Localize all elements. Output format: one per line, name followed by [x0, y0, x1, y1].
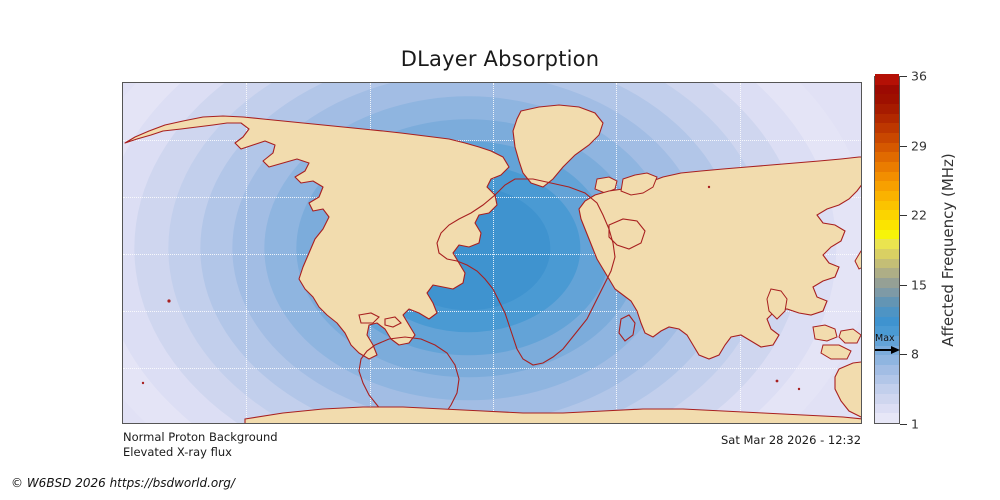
colorbar-segment: [875, 142, 899, 152]
colorbar-segment: [875, 229, 899, 239]
figure-root: DLayer Absorption: [0, 0, 1000, 500]
colorbar-segment: [875, 84, 899, 94]
status-note-xray: Elevated X-ray flux: [123, 445, 232, 459]
colorbar-tick: [900, 215, 907, 216]
colorbar-segment: [875, 393, 899, 403]
status-note-proton: Normal Proton Background: [123, 430, 278, 444]
colorbar-segment: [875, 171, 899, 181]
colorbar-segment: [875, 113, 899, 123]
colorbar-segment: [875, 152, 899, 162]
colorbar-segment: [875, 190, 899, 200]
colorbar-tick: [900, 146, 907, 147]
colorbar-axis-title-text: Affected Frequency (MHz): [939, 153, 957, 347]
page-title: DLayer Absorption: [0, 47, 1000, 71]
colorbar-gradient: [874, 76, 900, 424]
colorbar-segment: [875, 161, 899, 171]
map-canvas[interactable]: [122, 82, 862, 424]
colorbar-segment: [875, 74, 899, 84]
colorbar-tick-label: 8: [911, 347, 919, 362]
colorbar-tick: [900, 76, 907, 77]
colorbar-segment: [875, 239, 899, 249]
colorbar-segment: [875, 413, 899, 423]
max-marker-label: Max: [875, 334, 895, 344]
colorbar-segment: [875, 306, 899, 316]
colorbar-tick-label: 22: [911, 208, 927, 223]
colorbar-segment: [875, 364, 899, 374]
colorbar-segment: [875, 258, 899, 268]
colorbar-tick: [900, 424, 907, 425]
colorbar-segment: [875, 287, 899, 297]
copyright-footer: © W6BSD 2026 https://bsdworld.org/: [11, 476, 235, 490]
colorbar-segment: [875, 181, 899, 191]
world-coastlines: [123, 83, 861, 423]
colorbar-tick: [900, 285, 907, 286]
colorbar-segment: [875, 277, 899, 287]
colorbar-segment: [875, 210, 899, 220]
colorbar-segment: [875, 200, 899, 210]
colorbar-segment: [875, 297, 899, 307]
colorbar-tick: [900, 354, 907, 355]
colorbar[interactable]: 1815222936 Max: [874, 76, 900, 424]
colorbar-segment: [875, 384, 899, 394]
max-arrow-icon: [874, 345, 900, 355]
colorbar-segment: [875, 316, 899, 326]
colorbar-segment: [875, 219, 899, 229]
timestamp: Sat Mar 28 2026 - 12:32: [721, 433, 861, 447]
colorbar-segment: [875, 123, 899, 133]
colorbar-segment: [875, 355, 899, 365]
colorbar-segment: [875, 94, 899, 104]
colorbar-segment: [875, 248, 899, 258]
colorbar-segment: [875, 268, 899, 278]
map-inner: [123, 83, 861, 423]
colorbar-tick-label: 1: [911, 417, 919, 432]
colorbar-tick-label: 36: [911, 69, 927, 84]
colorbar-tick-label: 15: [911, 277, 927, 292]
colorbar-segment: [875, 103, 899, 113]
colorbar-segment: [875, 132, 899, 142]
colorbar-tick-label: 29: [911, 138, 927, 153]
colorbar-segment: [875, 403, 899, 413]
colorbar-axis-title: Affected Frequency (MHz): [938, 76, 958, 424]
colorbar-segment: [875, 374, 899, 384]
